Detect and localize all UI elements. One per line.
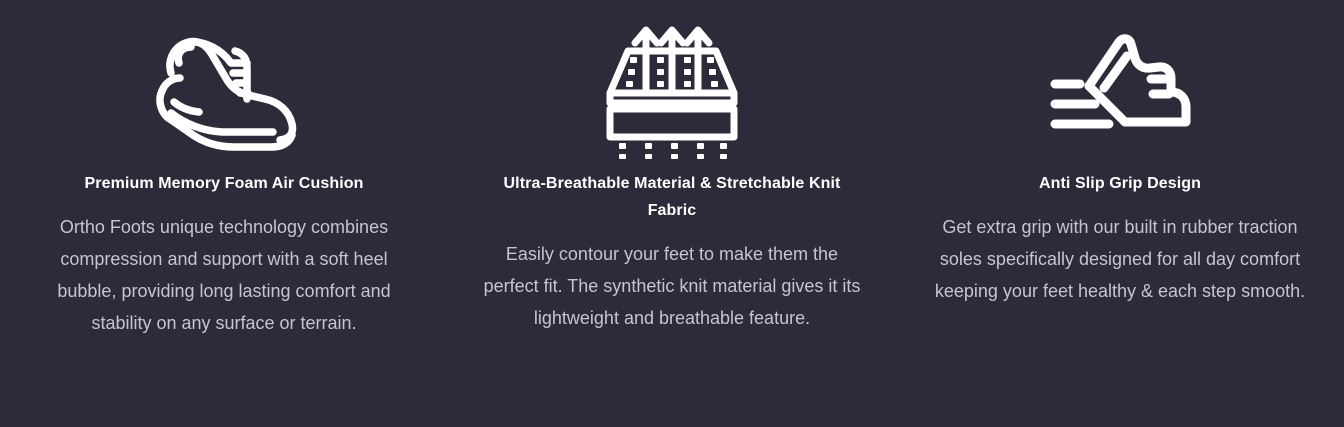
feature-card-anti-slip: Anti Slip Grip Design Get extra grip wit… (896, 0, 1344, 307)
feature-description: Easily contour your feet to make them th… (481, 238, 863, 334)
feature-title: Ultra-Breathable Material & Stretchable … (482, 170, 862, 224)
feature-description: Get extra grip with our built in rubber … (934, 211, 1306, 307)
breathable-mattress-airflow-icon (602, 0, 742, 170)
feature-card-memory-foam: Premium Memory Foam Air Cushion Ortho Fo… (0, 0, 448, 339)
feature-title: Premium Memory Foam Air Cushion (85, 170, 364, 197)
feature-card-breathable-knit: Ultra-Breathable Material & Stretchable … (448, 0, 896, 334)
feature-description: Ortho Foots unique technology combines c… (35, 211, 413, 339)
sneaker-side-icon (149, 0, 299, 170)
feature-title: Anti Slip Grip Design (1039, 170, 1201, 197)
product-features-section: Premium Memory Foam Air Cushion Ortho Fo… (0, 0, 1344, 427)
running-shoe-motion-icon (1047, 0, 1193, 170)
